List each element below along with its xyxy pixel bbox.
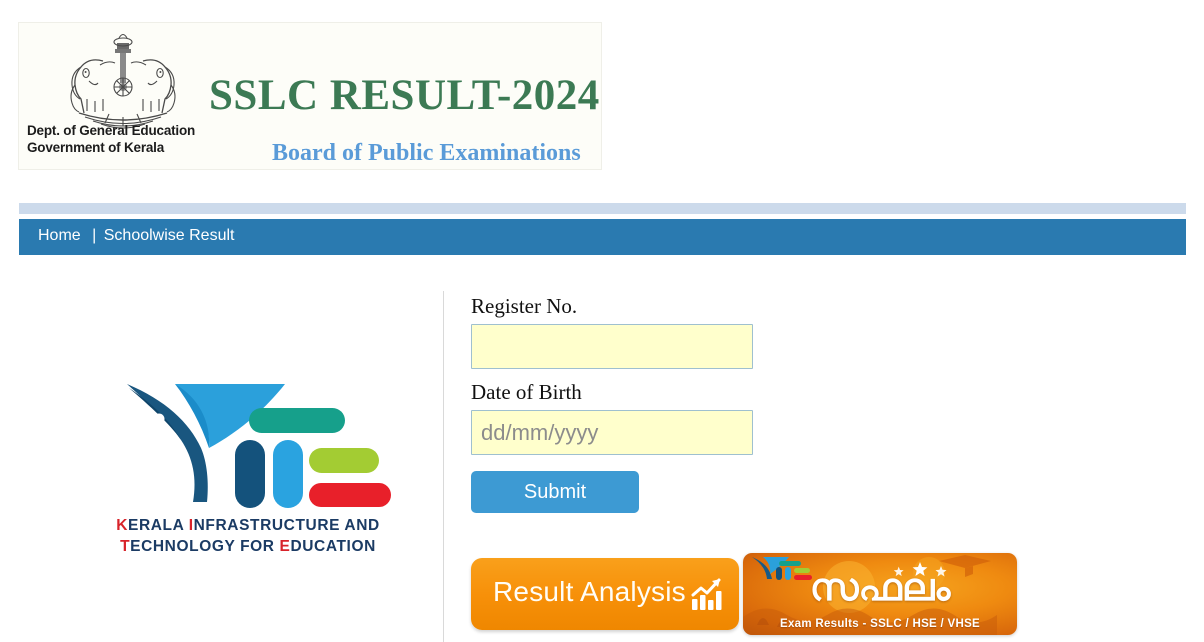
kite-logo-text-line2: TECHNOLOGY FOR EDUCATION [103,537,393,558]
saphalam-title: സഫലം [743,569,1017,607]
emblem-caption-line1: Dept. of General Education [27,123,227,140]
submit-gap [471,455,891,471]
nav-accent-strip [19,203,1186,214]
bar-chart-icon [687,576,725,614]
kite-word-technology-for: ECHNOLOGY FOR [130,538,279,555]
nav-item-schoolwise-result[interactable]: Schoolwise Result [104,227,235,244]
kite-cap-t: T [120,538,130,555]
page-subtitle: Board of Public Examinations [272,140,581,167]
result-lookup-form: Register No. Date of Birth Submit [471,296,891,513]
kite-word-education: DUCATION [290,538,375,555]
saphalam-subtitle: Exam Results - SSLC / HSE / VHSE [743,618,1017,630]
result-analysis-label: Result Analysis [493,576,686,608]
kite-logo-text: KERALA INFRASTRUCTURE AND TECHNOLOGY FOR… [103,516,393,558]
page-title: SSLC RESULT-2024 [209,71,600,120]
emblem-caption-line2: Government of Kerala [27,140,227,157]
submit-button[interactable]: Submit [471,471,639,513]
saphalam-banner[interactable]: സഫലം Exam Results - SSLC / HSE / VHSE [743,553,1017,635]
kite-logo: KERALA INFRASTRUCTURE AND TECHNOLOGY FOR… [103,378,393,558]
emblem-caption: Dept. of General Education Government of… [27,123,227,157]
kite-logo-text-line1: KERALA INFRASTRUCTURE AND [103,516,393,537]
breadcrumb: Home | Schoolwise Result [38,227,234,245]
date-of-birth-label: Date of Birth [471,382,891,403]
nav-separator: | [85,227,99,245]
kite-word-infrastructure-and: NFRASTRUCTURE AND [194,517,380,534]
kite-cap-k: K [116,517,128,534]
nav-item-home[interactable]: Home [38,227,81,244]
kite-logo-mark-icon [113,378,393,508]
content-divider [443,291,444,642]
kite-word-kerala: ERALA [128,517,189,534]
result-analysis-button[interactable]: Result Analysis [471,558,739,630]
register-no-label: Register No. [471,296,891,317]
register-no-input[interactable] [471,324,753,369]
navigation-bar: Home | Schoolwise Result [19,219,1186,255]
header-banner: Dept. of General Education Government of… [18,22,602,170]
kite-cap-e: E [280,538,291,555]
date-of-birth-input[interactable] [471,410,753,455]
